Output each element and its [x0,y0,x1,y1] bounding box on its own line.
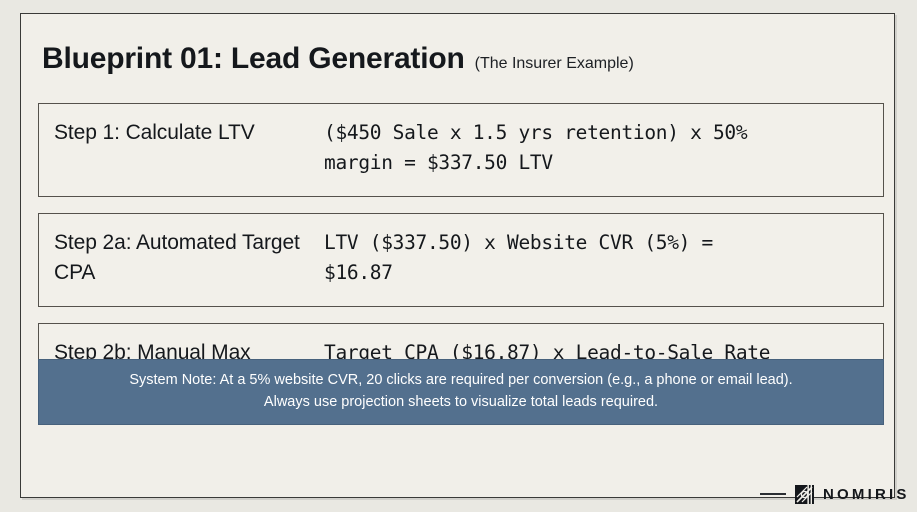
step-label: Step 2a: Automated Target CPA [54,228,324,288]
page-title-subtitle: (The Insurer Example) [475,55,634,73]
page-title: Blueprint 01: Lead Generation (The Insur… [42,42,634,76]
brand-logo: NOMIRIS [760,481,910,507]
nomiris-logo-icon [795,485,814,504]
system-note-banner: System Note: At a 5% website CVR, 20 cli… [38,359,884,425]
step-formula: ($450 Sale x 1.5 yrs retention) x 50% ma… [324,118,867,178]
step-row: Step 2a: Automated Target CPA LTV ($337.… [38,213,884,307]
brand-divider-line [760,493,786,495]
brand-name: NOMIRIS [823,486,910,503]
system-note-line-2: Always use projection sheets to visualiz… [53,391,869,413]
slide-card: Blueprint 01: Lead Generation (The Insur… [20,13,895,498]
step-label: Step 1: Calculate LTV [54,118,324,148]
step-row: Step 1: Calculate LTV ($450 Sale x 1.5 y… [38,103,884,197]
page-title-main: Blueprint 01: Lead Generation [42,42,465,76]
step-formula: LTV ($337.50) x Website CVR (5%) = $16.8… [324,228,867,288]
system-note-line-1: System Note: At a 5% website CVR, 20 cli… [53,369,869,391]
